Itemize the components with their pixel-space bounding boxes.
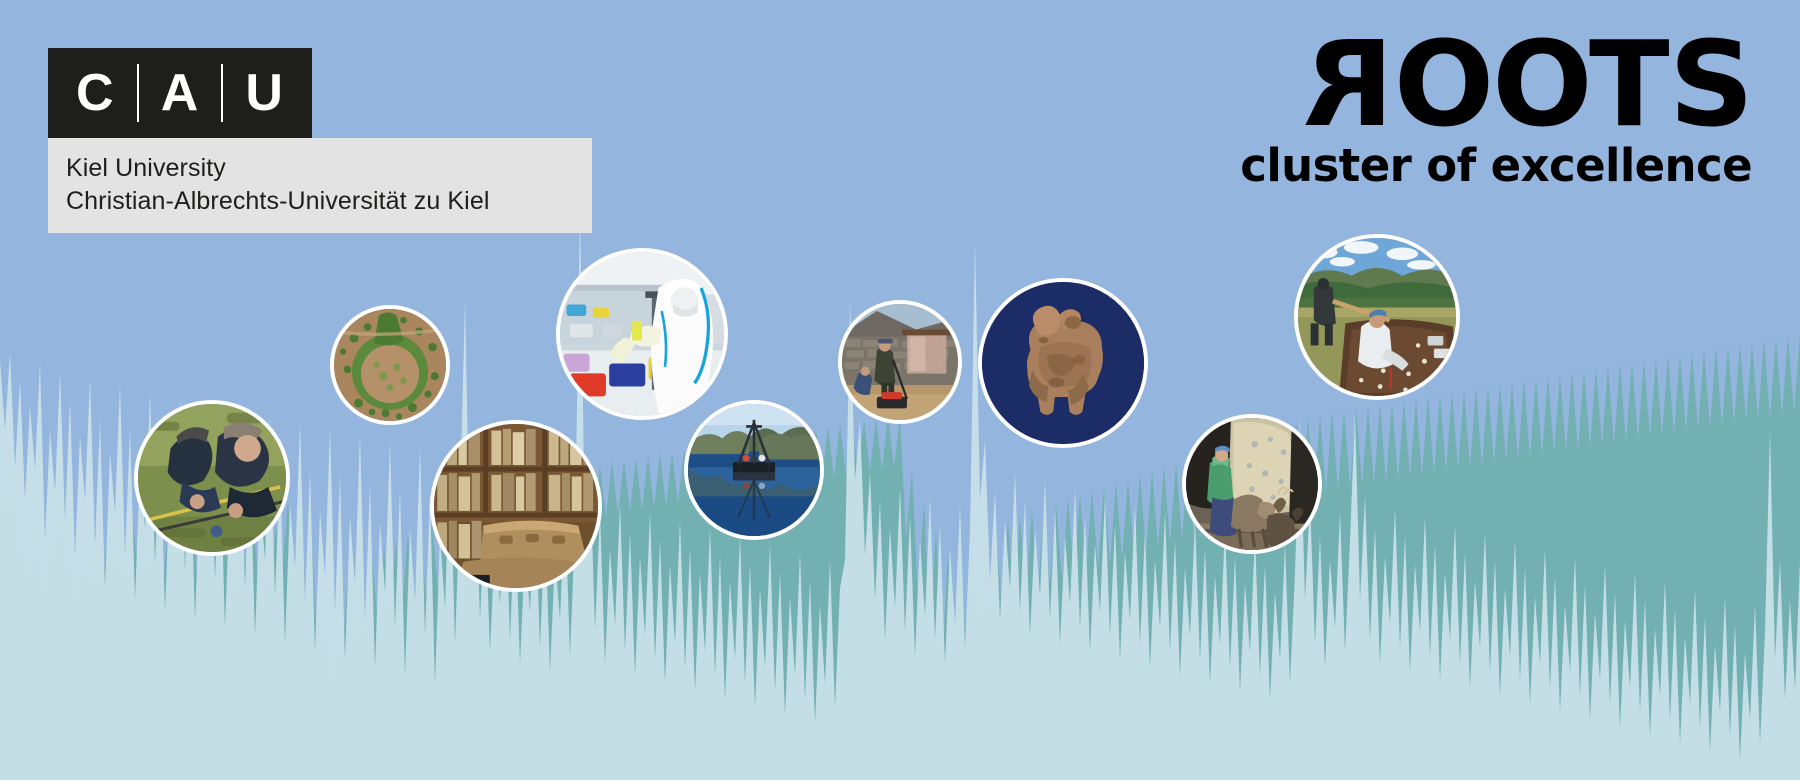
photo-mongolia-excavation-art bbox=[1298, 238, 1456, 396]
cau-letter-c: C bbox=[54, 67, 137, 119]
roots-letter-o1: O bbox=[1394, 30, 1492, 139]
roots-letter-s: S bbox=[1669, 30, 1752, 139]
cau-letter-u: U bbox=[223, 67, 306, 119]
roots-cau-banner: C A U Kiel University Christian-Albrecht… bbox=[0, 0, 1800, 780]
cau-logo-mark: C A U bbox=[48, 48, 312, 138]
photo-aerial-circular-enclosure[interactable] bbox=[330, 305, 450, 425]
photo-clean-lab-art bbox=[560, 252, 724, 416]
cau-wordmark: Kiel University Christian-Albrechts-Univ… bbox=[48, 138, 592, 233]
photo-clay-figurine-art bbox=[982, 282, 1144, 444]
photo-clay-figurine[interactable] bbox=[978, 278, 1148, 448]
roots-wordmark: R O O T S bbox=[1240, 30, 1752, 139]
photo-aerial-circular-enclosure-art bbox=[334, 309, 446, 421]
photo-clean-lab[interactable] bbox=[556, 248, 728, 420]
cau-letter-a: A bbox=[139, 67, 222, 119]
photo-archive-books[interactable] bbox=[430, 420, 602, 592]
roots-letter-r: R bbox=[1305, 30, 1394, 139]
photo-mongolia-excavation[interactable] bbox=[1294, 234, 1460, 400]
photo-geophysical-survey[interactable] bbox=[838, 300, 962, 424]
roots-letter-o2: O bbox=[1492, 30, 1590, 139]
photo-reindeer-herders-art bbox=[1186, 418, 1318, 550]
photo-field-sampling[interactable] bbox=[134, 400, 290, 556]
photo-field-sampling-art bbox=[138, 404, 286, 552]
cau-logo[interactable]: C A U Kiel University Christian-Albrecht… bbox=[48, 48, 592, 233]
photo-geophysical-survey-art bbox=[842, 304, 958, 420]
photo-lake-coring-art bbox=[688, 404, 820, 536]
cau-wordmark-line-de: Christian-Albrechts-Universität zu Kiel bbox=[66, 185, 574, 218]
roots-cluster-logo[interactable]: R O O T S cluster of excellence bbox=[1240, 30, 1752, 188]
cau-wordmark-line-en: Kiel University bbox=[66, 152, 574, 185]
photo-lake-coring[interactable] bbox=[684, 400, 824, 540]
photo-archive-books-art bbox=[434, 424, 598, 588]
photo-reindeer-herders[interactable] bbox=[1182, 414, 1322, 554]
roots-letter-t: T bbox=[1591, 30, 1670, 139]
